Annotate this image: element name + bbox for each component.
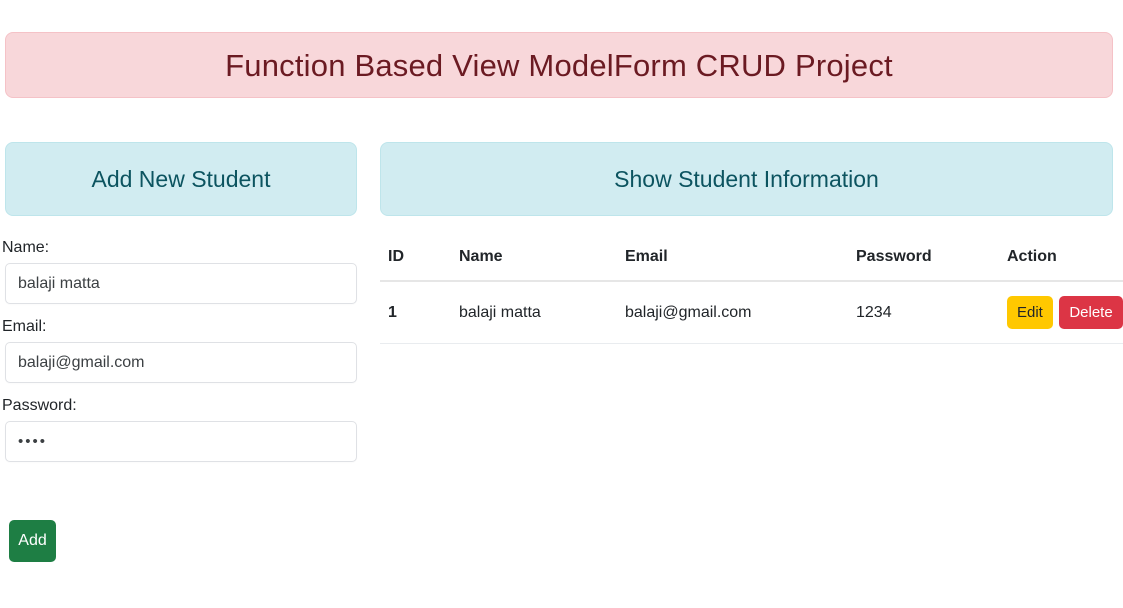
email-field-group: Email:: [0, 317, 360, 383]
column-header-id: ID: [380, 240, 451, 281]
delete-button[interactable]: Delete: [1059, 296, 1122, 329]
show-student-information-title: Show Student Information: [614, 168, 879, 191]
add-button[interactable]: Add: [9, 520, 56, 562]
show-student-information-panel-header: Show Student Information: [380, 142, 1113, 216]
column-header-action: Action: [999, 240, 1123, 281]
password-label: Password:: [0, 396, 360, 416]
edit-button[interactable]: Edit: [1007, 296, 1053, 329]
column-header-name: Name: [451, 240, 617, 281]
name-field-group: Name:: [0, 238, 360, 304]
cell-action: Edit Delete: [999, 281, 1123, 344]
table-row: 1 balaji matta balaji@gmail.com 1234 Edi…: [380, 281, 1123, 344]
email-label: Email:: [0, 317, 360, 337]
table-header-row: ID Name Email Password Action: [380, 240, 1123, 281]
add-new-student-panel-header: Add New Student: [5, 142, 357, 216]
add-student-form: Name: Email: Password:: [0, 238, 360, 475]
cell-name: balaji matta: [451, 281, 617, 344]
page-title: Function Based View ModelForm CRUD Proje…: [225, 50, 893, 81]
password-input[interactable]: [5, 421, 357, 462]
student-table-head: ID Name Email Password Action: [380, 240, 1123, 281]
name-label: Name:: [0, 238, 360, 258]
password-field-group: Password:: [0, 396, 360, 462]
email-input[interactable]: [5, 342, 357, 383]
column-header-password: Password: [848, 240, 999, 281]
name-input[interactable]: [5, 263, 357, 304]
cell-email: balaji@gmail.com: [617, 281, 848, 344]
cell-id: 1: [380, 281, 451, 344]
student-table: ID Name Email Password Action 1 balaji m…: [380, 240, 1123, 344]
add-new-student-title: Add New Student: [91, 168, 270, 191]
page-title-banner: Function Based View ModelForm CRUD Proje…: [5, 32, 1113, 98]
student-table-body: 1 balaji matta balaji@gmail.com 1234 Edi…: [380, 281, 1123, 344]
cell-password: 1234: [848, 281, 999, 344]
student-table-container: ID Name Email Password Action 1 balaji m…: [380, 240, 1113, 344]
column-header-email: Email: [617, 240, 848, 281]
app-root: Function Based View ModelForm CRUD Proje…: [0, 0, 1123, 608]
